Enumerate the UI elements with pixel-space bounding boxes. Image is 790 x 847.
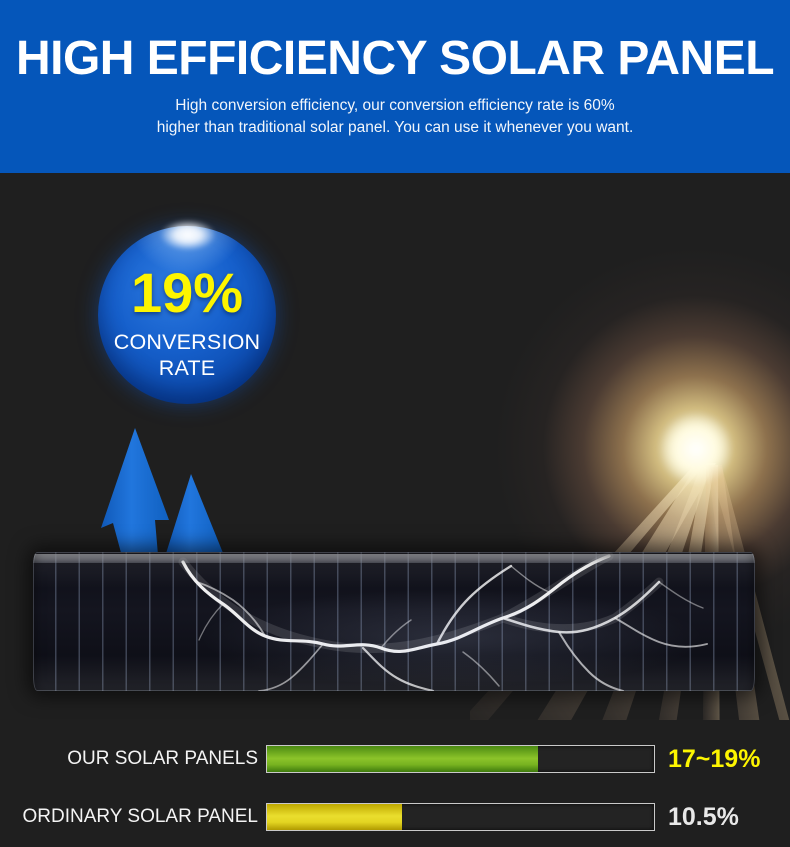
solar-panel-infographic: HIGH EFFICIENCY SOLAR PANEL High convers… <box>0 0 790 847</box>
bar-fill <box>267 746 538 772</box>
header-banner: HIGH EFFICIENCY SOLAR PANEL High convers… <box>0 0 790 173</box>
badge-label-line-1: CONVERSION <box>98 330 276 355</box>
bar-track <box>266 803 655 831</box>
header-subtitle-line-2: higher than traditional solar panel. You… <box>0 117 790 139</box>
bar-value: 10.5% <box>668 800 739 834</box>
solar-panel-icon <box>33 552 755 691</box>
badge-percent-value: 19% <box>98 265 276 321</box>
bar-fill <box>267 804 402 830</box>
header-subtitle: High conversion efficiency, our conversi… <box>0 95 790 139</box>
bar-label: ORDINARY SOLAR PANEL <box>0 800 258 834</box>
bar-value: 17~19% <box>668 742 760 776</box>
panel-border <box>33 552 755 691</box>
sun-core-icon <box>660 413 732 485</box>
efficiency-comparison-chart: OUR SOLAR PANELS 17~19% ORDINARY SOLAR P… <box>0 720 790 847</box>
chart-row: OUR SOLAR PANELS 17~19% <box>0 742 790 776</box>
badge-label-line-2: RATE <box>98 356 276 381</box>
page-title: HIGH EFFICIENCY SOLAR PANEL <box>0 30 790 88</box>
bar-label: OUR SOLAR PANELS <box>0 742 258 776</box>
header-subtitle-line-1: High conversion efficiency, our conversi… <box>0 95 790 117</box>
product-scene: 19% CONVERSION RATE <box>0 173 790 720</box>
bar-track <box>266 745 655 773</box>
chart-row: ORDINARY SOLAR PANEL 10.5% <box>0 800 790 834</box>
